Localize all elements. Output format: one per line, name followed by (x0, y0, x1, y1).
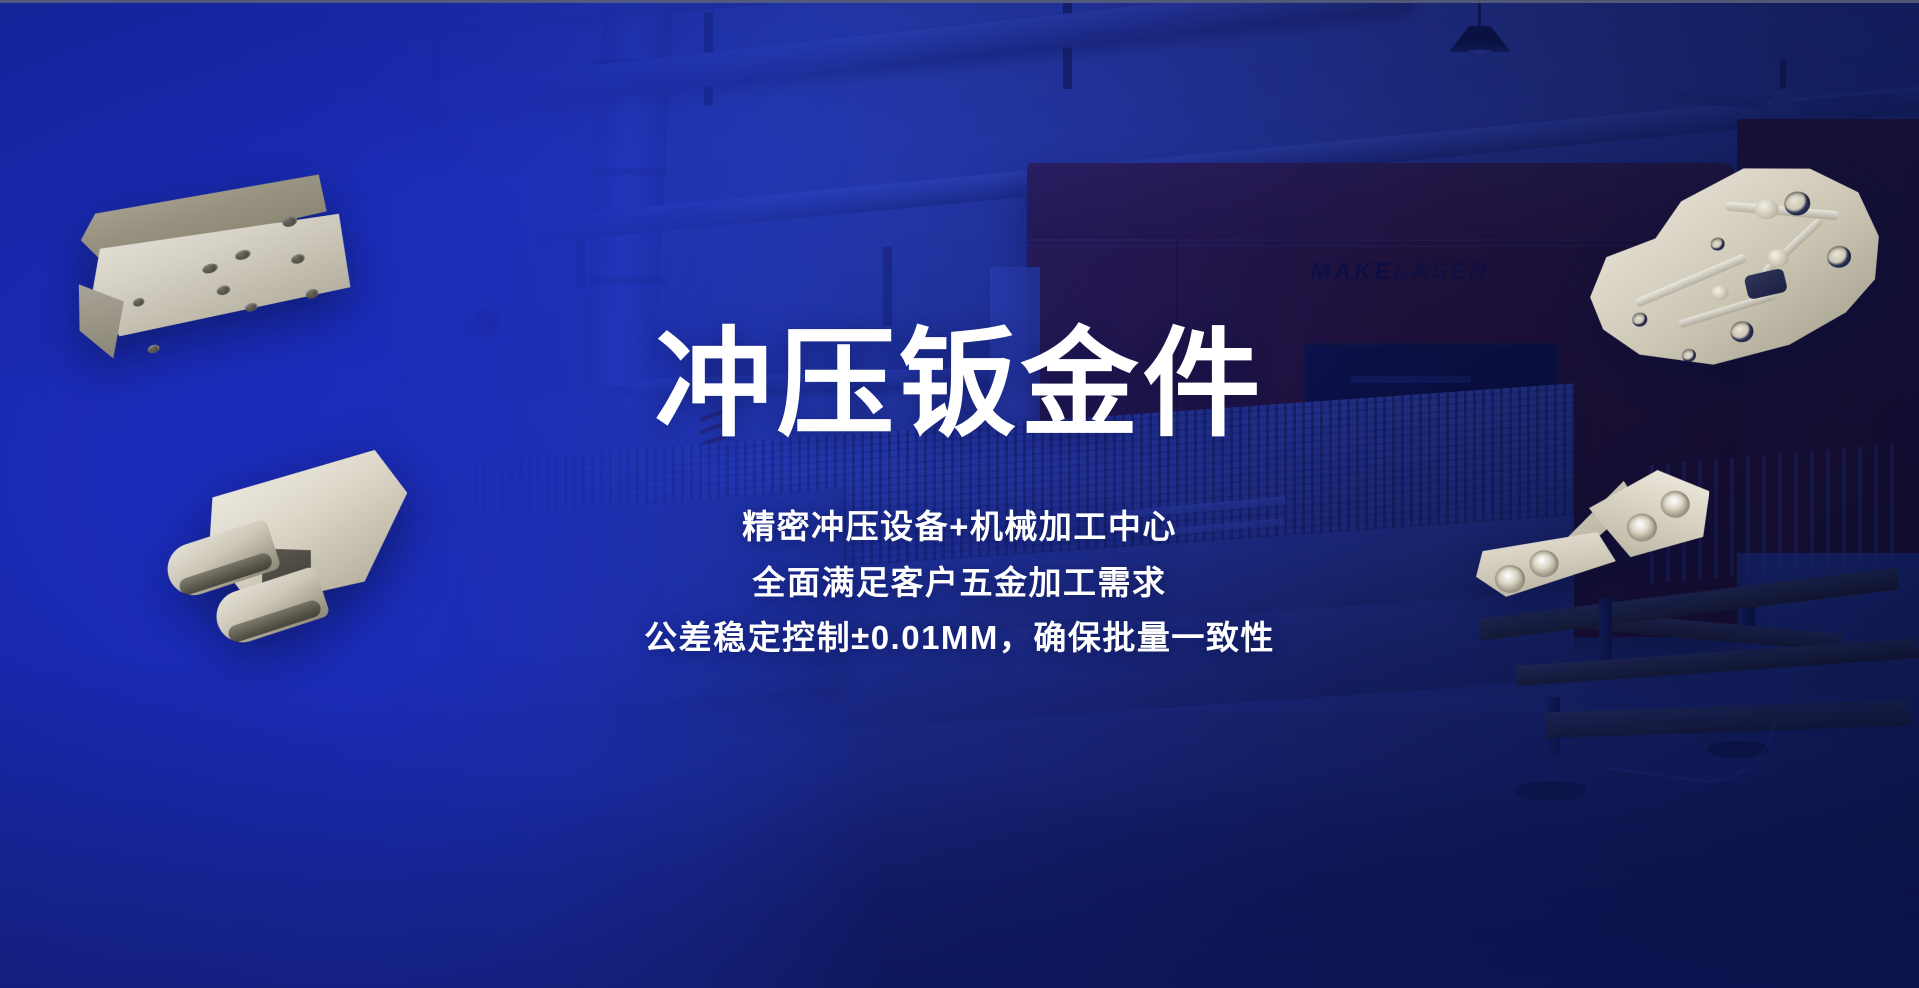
hero-banner: MAKELASER (0, 0, 1919, 988)
subtitle-line-1: 精密冲压设备+机械加工中心 (644, 504, 1275, 551)
subtitle-line-2: 全面满足客户五金加工需求 (644, 560, 1275, 607)
subtitle-line-3: 公差稳定控制±0.01MM，确保批量一致性 (644, 615, 1275, 662)
subtitle-group: 精密冲压设备+机械加工中心 全面满足客户五金加工需求 公差稳定控制±0.01MM… (644, 504, 1275, 663)
hero-copy: 冲压钣金件 精密冲压设备+机械加工中心 全面满足客户五金加工需求 公差稳定控制±… (0, 0, 1919, 988)
page-title: 冲压钣金件 (654, 326, 1264, 444)
